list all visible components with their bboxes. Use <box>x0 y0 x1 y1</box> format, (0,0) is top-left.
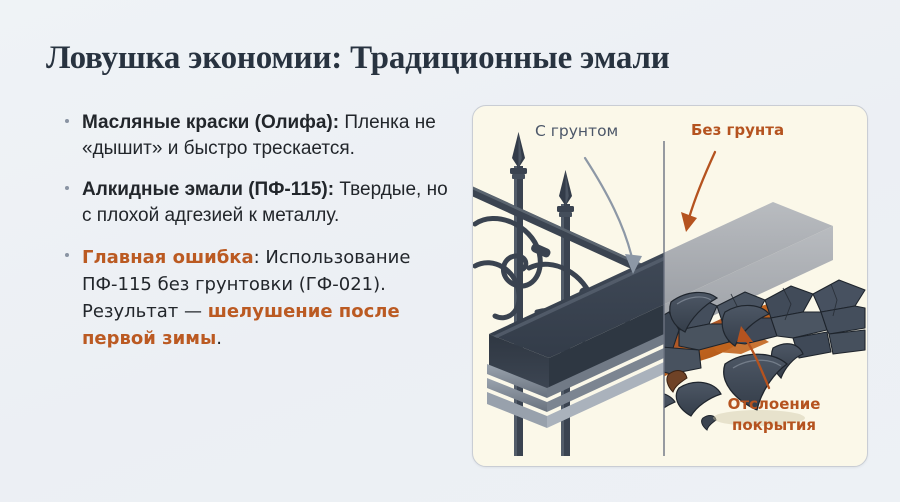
paint-flake-fallen <box>630 392 675 428</box>
list-item: Масляные краски (Олифа): Пленка не «дыши… <box>62 110 462 162</box>
bullet-text: Алкидные эмали (ПФ-115): Твердые, но с п… <box>82 177 462 229</box>
illustration-panel: С грунтом Без грунта Отслоение покрытия <box>472 105 868 467</box>
label-peeling: Отслоение покрытия <box>709 394 839 436</box>
bullet-dot-icon <box>65 253 69 257</box>
bullet-text: Главная ошибка: Использование ПФ-115 без… <box>82 244 462 352</box>
spear-finial-icon <box>557 170 574 217</box>
spear-finial-icon <box>510 132 527 179</box>
arrow-to-unprimed <box>681 152 715 232</box>
bullet-tail: . <box>216 328 222 349</box>
list-item: Главная ошибка: Использование ПФ-115 без… <box>62 244 462 352</box>
bullet-text: Масляные краски (Олифа): Пленка не «дыши… <box>82 110 462 162</box>
bullet-dot-icon <box>65 119 69 123</box>
label-primed: С грунтом <box>535 122 618 140</box>
paint-chip <box>617 407 637 426</box>
list-item: Алкидные эмали (ПФ-115): Твердые, но с п… <box>62 177 462 229</box>
bullet-lead: Масляные краски (Олифа): <box>82 112 339 133</box>
bullet-list: Масляные краски (Олифа): Пленка не «дыши… <box>62 110 462 352</box>
bullet-lead: Алкидные эмали (ПФ-115): <box>82 179 334 200</box>
bullet-dot-icon <box>65 186 69 190</box>
page-title: Ловушка экономии: Традиционные эмали <box>46 38 866 78</box>
label-unprimed: Без грунта <box>691 121 784 139</box>
bullet-lead-accent: Главная ошибка <box>82 247 254 268</box>
slide-root: Ловушка экономии: Традиционные эмали Мас… <box>0 0 900 502</box>
